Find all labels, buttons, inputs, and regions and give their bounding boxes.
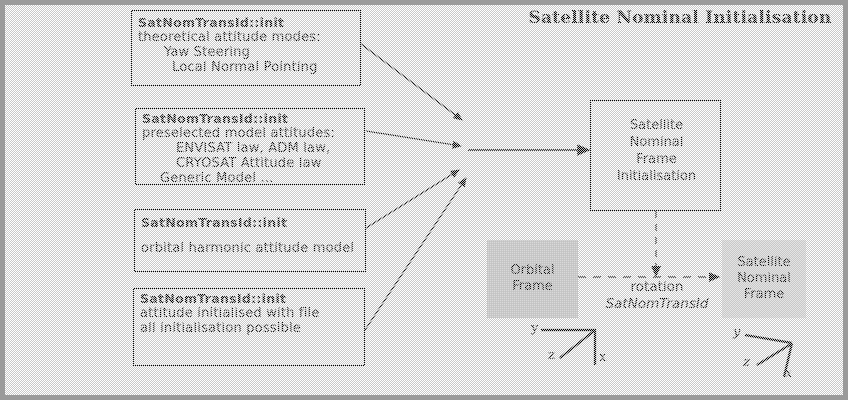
connector-box1 (361, 44, 462, 120)
rotation-operator: SatNomTransId (586, 296, 728, 313)
box-orbital-harmonic-attitude-model[interactable]: SatNomTransId::init orbital harmonic att… (134, 209, 366, 272)
orbital-axis-x-label: x (599, 350, 606, 365)
gray-box-satellite-nominal-frame[interactable]: Satellite Nominal Frame (722, 240, 806, 318)
box-attitude-initialised-with-file[interactable]: SatNomTransId::init attitude initialised… (133, 288, 365, 366)
nominal-frame-line-1: Satellite (737, 255, 791, 271)
orbital-axis-z-label: z (548, 348, 555, 363)
box2-line-4: Generic Model ... (142, 171, 364, 186)
box2-line-1: preselected model attitudes: (142, 126, 364, 141)
gray-box-orbital-frame[interactable]: Orbital Frame (487, 240, 578, 318)
process-line-4: Initialisation (591, 168, 722, 185)
connector-box3 (366, 170, 459, 228)
box2-line-2: ENVISAT law, ADM law, (142, 141, 364, 156)
nominal-frame-line-2: Nominal (737, 271, 791, 287)
box4-line-1: attitude initialised with file (140, 306, 364, 321)
box2-line-3: CRYOSAT Attitude law (142, 156, 364, 171)
rotation-label-group: rotation SatNomTransId (586, 279, 728, 313)
process-line-3: Frame (591, 151, 722, 168)
box4-line-2: all initialisation possible (140, 321, 364, 336)
nominal-axis-z-label: z (743, 355, 750, 370)
box-satellite-nominal-frame-initialisation[interactable]: Satellite Nominal Frame Initialisation (590, 100, 721, 211)
orbital-frame-line-1: Orbital (510, 263, 554, 279)
rotation-label: rotation (586, 279, 728, 296)
box1-line-3: Local Normal Pointing (138, 60, 360, 75)
process-line-2: Nominal (591, 134, 722, 151)
box1-line-2: Yaw Steering (138, 45, 360, 60)
nominal-axis-y-label: y (733, 325, 740, 340)
process-line-1: Satellite (591, 117, 722, 134)
connector-box2 (366, 131, 461, 146)
connector-box4 (365, 178, 466, 330)
box2-title: SatNomTransId::init (142, 111, 364, 126)
nominal-frame-line-3: Frame (737, 287, 791, 303)
orbital-frame-line-2: Frame (510, 279, 554, 295)
nominal-axis-x-label: x (785, 366, 792, 381)
box1-title: SatNomTransId::init (138, 15, 360, 30)
diagram-canvas: Satellite Nominal Initialisation SatNomT… (0, 0, 848, 400)
box3-title: SatNomTransId::init (141, 215, 365, 230)
orbital-axis-y-label: y (531, 321, 538, 336)
box3-line-1: orbital harmonic attitude model (141, 241, 365, 256)
box-theoretical-attitude-modes[interactable]: SatNomTransId::init theoretical attitude… (131, 10, 361, 86)
box-preselected-model-attitudes[interactable]: SatNomTransId::init preselected model at… (135, 108, 365, 185)
box4-title: SatNomTransId::init (140, 291, 364, 306)
box1-line-1: theoretical attitude modes: (138, 30, 360, 45)
page-title: Satellite Nominal Initialisation (520, 8, 840, 28)
